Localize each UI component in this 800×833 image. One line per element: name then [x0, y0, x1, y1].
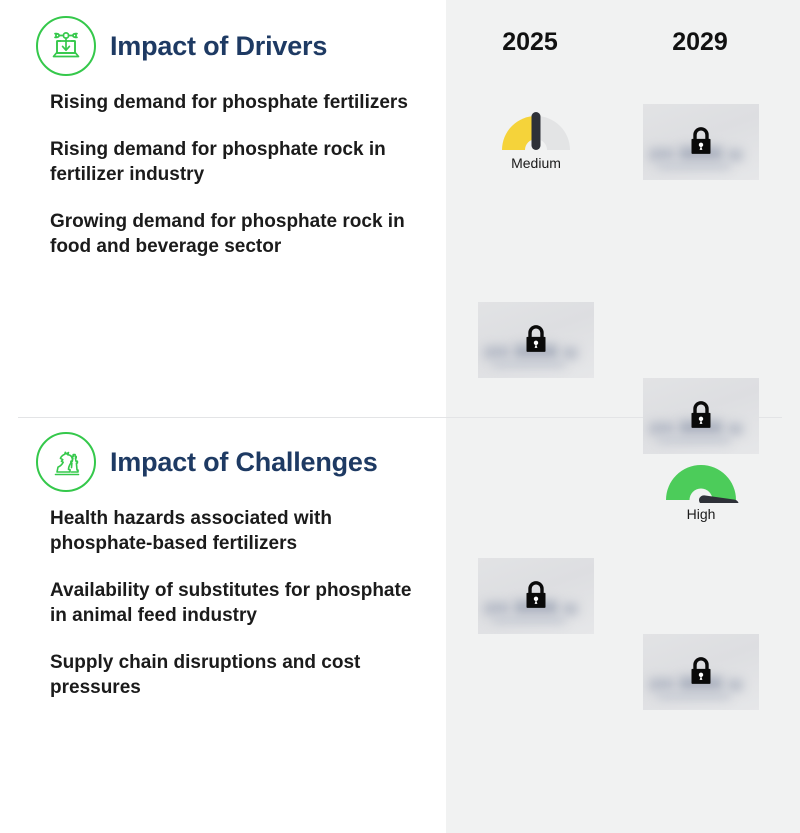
- drivers-list: Rising demand for phosphate fertilizers …: [0, 90, 446, 259]
- section-challenges: Impact of Challenges Health hazards asso…: [0, 430, 446, 722]
- gauge-label: High: [687, 506, 716, 522]
- list-item: Rising demand for phosphate rock in fert…: [50, 137, 420, 187]
- gauge-label: Medium: [511, 155, 561, 171]
- lock-icon: [686, 398, 716, 432]
- blurred-content: [484, 346, 510, 359]
- list-item: Rising demand for phosphate fertilizers: [50, 90, 420, 115]
- list-item: Availability of substitutes for phosphat…: [50, 578, 420, 628]
- impact-gauge-challenges-1-2029[interactable]: High: [643, 453, 759, 543]
- blurred-content: [484, 602, 510, 615]
- blurred-content: [657, 436, 731, 444]
- challenges-chess-pieces-icon: [36, 432, 96, 492]
- locked-cell-drivers-2-2025[interactable]: [478, 302, 594, 378]
- list-item: Health hazards associated with phosphate…: [50, 506, 420, 556]
- blurred-content: [727, 149, 743, 161]
- blurred-content: [657, 692, 731, 700]
- section-header-challenges: Impact of Challenges: [0, 430, 446, 494]
- section-title-drivers: Impact of Drivers: [110, 31, 327, 62]
- column-header-2025: 2025: [470, 28, 590, 57]
- blurred-content: [562, 347, 578, 359]
- locked-cell-drivers-2-2029[interactable]: [643, 378, 759, 454]
- gauge-high-svg: [661, 453, 741, 503]
- lock-icon: [521, 322, 551, 356]
- column-header-2029: 2029: [640, 28, 760, 57]
- blurred-content: [657, 162, 731, 170]
- impact-matrix-page: 2025 2029 Impact of Drivers: [0, 0, 800, 833]
- section-title-challenges: Impact of Challenges: [110, 447, 378, 478]
- drivers-laptop-arrow-icon: [36, 16, 96, 76]
- impact-gauge-drivers-1-2025[interactable]: Medium: [478, 104, 594, 194]
- section-drivers: Impact of Drivers Rising demand for phos…: [0, 14, 446, 281]
- locked-cell-drivers-3-2029[interactable]: [643, 634, 759, 710]
- challenges-list: Health hazards associated with phosphate…: [0, 506, 446, 700]
- locked-cell-drivers-3-2025[interactable]: [478, 558, 594, 634]
- blurred-content: [492, 616, 566, 624]
- blurred-content: [562, 603, 578, 615]
- lock-icon: [521, 578, 551, 612]
- blurred-content: [492, 360, 566, 368]
- list-item: Supply chain disruptions and cost pressu…: [50, 650, 420, 700]
- blurred-content: [727, 679, 743, 691]
- blurred-content: [649, 148, 675, 161]
- section-header-drivers: Impact of Drivers: [0, 14, 446, 78]
- lock-icon: [686, 654, 716, 688]
- list-item: Growing demand for phosphate rock in foo…: [50, 209, 420, 259]
- blurred-content: [649, 422, 675, 435]
- blurred-content: [727, 423, 743, 435]
- locked-cell-drivers-1-2029[interactable]: [643, 104, 759, 180]
- blurred-content: [649, 678, 675, 691]
- gauge-medium-svg: [498, 104, 574, 152]
- lock-icon: [686, 124, 716, 158]
